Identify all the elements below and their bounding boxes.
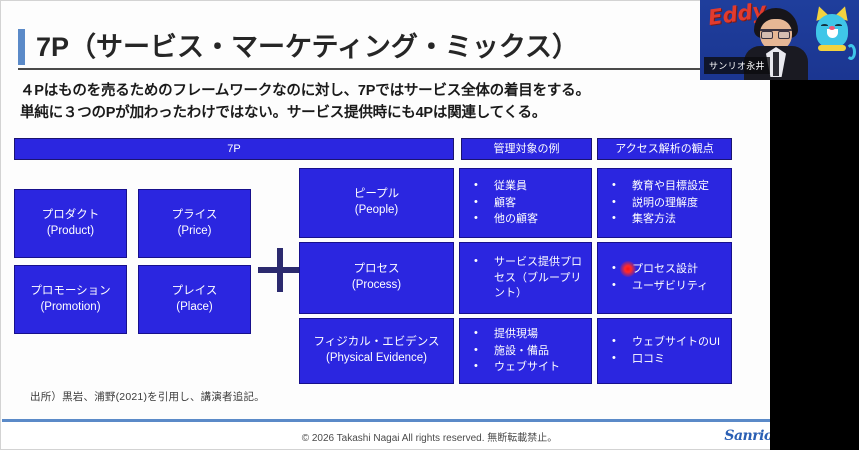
webcam-overlay[interactable]: Eddy サンリオ永井 bbox=[700, 0, 859, 80]
laser-pointer-icon bbox=[620, 261, 636, 277]
title-accent-bar bbox=[18, 29, 25, 65]
row-people-name-jp: ピープル bbox=[354, 187, 399, 203]
glasses-left-lens bbox=[761, 31, 773, 39]
presenter-tie bbox=[773, 52, 779, 76]
row-people-name: ピープル (People) bbox=[299, 168, 454, 238]
row-physical-evidence-managed: 提供現場 施設・備品 ウェブサイト bbox=[459, 318, 592, 384]
row-physical-evidence-name-jp: フィジカル・エビデンス bbox=[313, 335, 439, 351]
four-p-box-promotion: プロモーション (Promotion) bbox=[14, 265, 127, 334]
list-item: ウェブサイト bbox=[472, 360, 585, 376]
row-process-managed: サービス提供プロセス（ブループリント） bbox=[459, 242, 592, 314]
list-item: 口コミ bbox=[610, 352, 725, 368]
right-black-margin bbox=[770, 80, 859, 450]
row-process-name-en: (Process) bbox=[352, 278, 401, 294]
lead-line-2: 単純に３つのPが加わったわけではない。サービス提供時にも4Pは関連してくる。 bbox=[20, 102, 720, 124]
four-p-place-en: (Place) bbox=[172, 300, 218, 316]
four-p-promotion-jp: プロモーション bbox=[30, 284, 110, 300]
row-people-analytics: 教育や目標設定 説明の理解度 集客方法 bbox=[597, 168, 732, 238]
four-p-price-en: (Price) bbox=[172, 224, 218, 240]
four-p-box-price: プライス (Price) bbox=[138, 189, 251, 258]
four-p-product-en: (Product) bbox=[42, 224, 100, 240]
page-title: 7P（サービス・マーケティング・ミックス） bbox=[36, 34, 579, 61]
row-process-name-jp: プロセス bbox=[352, 262, 401, 278]
list-item: 施設・備品 bbox=[472, 344, 585, 360]
mascot-tail bbox=[846, 44, 856, 60]
mascot-scarf bbox=[818, 45, 846, 51]
list-item: サービス提供プロセス（ブループリント） bbox=[472, 255, 585, 303]
header-managed-examples: 管理対象の例 bbox=[461, 138, 592, 160]
cat-mascot-icon bbox=[808, 4, 856, 64]
glasses-right-lens bbox=[778, 31, 790, 39]
four-p-box-place: プレイス (Place) bbox=[138, 265, 251, 334]
list-item: 他の顧客 bbox=[472, 212, 585, 228]
sanrio-logo-text: Sanrio bbox=[724, 428, 772, 444]
four-p-place-jp: プレイス bbox=[172, 284, 218, 300]
row-physical-evidence-name: フィジカル・エビデンス (Physical Evidence) bbox=[299, 318, 454, 384]
four-p-promotion-en: (Promotion) bbox=[30, 300, 110, 316]
presenter-name-label: サンリオ永井 bbox=[704, 57, 770, 74]
glasses-icon bbox=[760, 29, 792, 37]
list-item: ユーザビリティ bbox=[610, 279, 725, 295]
header-seven-p: 7P bbox=[14, 138, 454, 160]
list-item: 教育や目標設定 bbox=[610, 179, 725, 195]
plus-icon bbox=[258, 248, 302, 292]
row-people-name-en: (People) bbox=[354, 203, 399, 219]
title-underline bbox=[18, 68, 702, 70]
four-p-product-jp: プロダクト bbox=[42, 208, 100, 224]
header-analytics-view: アクセス解析の観点 bbox=[597, 138, 732, 160]
list-item: ウェブサイトのUI bbox=[610, 335, 725, 351]
mascot-right-eye bbox=[835, 24, 842, 27]
lead-paragraph: ４Pはものを売るためのフレームワークなのに対し、7Pではサービス全体の着目をする… bbox=[20, 80, 720, 125]
mascot-left-eye bbox=[821, 24, 828, 27]
row-people-managed: 従業員 顧客 他の顧客 bbox=[459, 168, 592, 238]
mascot-nose bbox=[829, 26, 835, 30]
list-item: 従業員 bbox=[472, 179, 585, 195]
source-note: 出所）黒岩、浦野(2021)を引用し、講演者追記。 bbox=[30, 389, 265, 404]
list-item: 提供現場 bbox=[472, 327, 585, 343]
row-process-name: プロセス (Process) bbox=[299, 242, 454, 314]
four-p-price-jp: プライス bbox=[172, 208, 218, 224]
row-process-analytics: プロセス設計 ユーザビリティ bbox=[597, 242, 732, 314]
four-p-box-product: プロダクト (Product) bbox=[14, 189, 127, 258]
lead-line-1: ４Pはものを売るためのフレームワークなのに対し、7Pではサービス全体の着目をする… bbox=[20, 80, 720, 102]
row-physical-evidence-analytics: ウェブサイトのUI 口コミ bbox=[597, 318, 732, 384]
slide-title-row: 7P（サービス・マーケティング・ミックス） bbox=[18, 26, 698, 68]
row-physical-evidence-name-en: (Physical Evidence) bbox=[313, 351, 439, 367]
list-item: 顧客 bbox=[472, 196, 585, 212]
list-item: 集客方法 bbox=[610, 212, 725, 228]
list-item: 説明の理解度 bbox=[610, 196, 725, 212]
slide-screenshot: 7P（サービス・マーケティング・ミックス） ４Pはものを売るためのフレームワーク… bbox=[0, 0, 859, 450]
